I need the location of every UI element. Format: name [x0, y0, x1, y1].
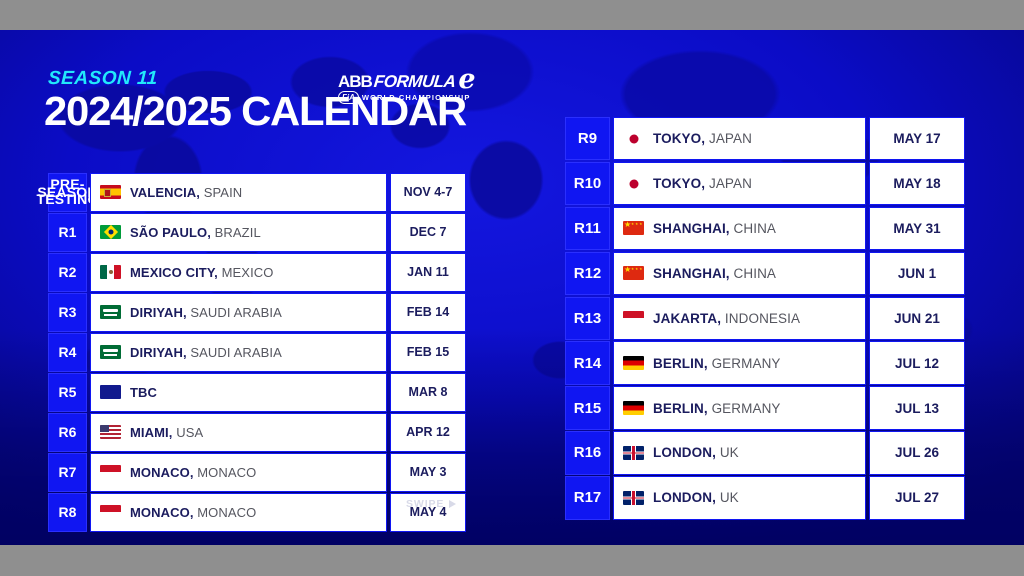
- round-badge: R8: [48, 493, 87, 532]
- table-row[interactable]: R2MEXICO CITY, MEXICOJAN 11: [48, 253, 466, 292]
- table-row[interactable]: R4DIRIYAH, SAUDI ARABIAFEB 15: [48, 333, 466, 372]
- race-date: NOV 4-7: [390, 173, 466, 212]
- table-row[interactable]: R14BERLIN, GERMANYJUL 12: [565, 341, 965, 384]
- mexico-flag: [100, 265, 121, 279]
- venue-cell: LONDON, UK: [613, 476, 866, 519]
- table-row[interactable]: R5TBCMAR 8: [48, 373, 466, 412]
- venue-label: SHANGHAI, CHINA: [653, 221, 776, 236]
- round-badge: R3: [48, 293, 87, 332]
- round-badge: R4: [48, 333, 87, 372]
- venue-label: DIRIYAH, SAUDI ARABIA: [130, 305, 282, 320]
- fia-badge-icon: FiA: [338, 91, 359, 104]
- venue-country: UK: [720, 445, 739, 460]
- venue-label: VALENCIA, SPAIN: [130, 185, 242, 200]
- round-badge: R15: [565, 386, 610, 429]
- venue-cell: TBC: [90, 373, 387, 412]
- usa-flag: [100, 425, 121, 439]
- venue-city: MIAMI,: [130, 425, 172, 440]
- china-flag: [623, 221, 644, 235]
- table-row[interactable]: R7MONACO, MONACOMAY 3: [48, 453, 466, 492]
- round-badge: R6: [48, 413, 87, 452]
- abb-formula-e-logo: ABB FORMULA e FiA WORLD CHAMPIONSHIP: [338, 70, 478, 108]
- japan-flag: [623, 177, 644, 191]
- round-badge: R9: [565, 117, 610, 160]
- venue-cell: TOKYO, JAPAN: [613, 117, 866, 160]
- venue-country: JAPAN: [709, 131, 752, 146]
- venue-cell: MONACO, MONACO: [90, 493, 387, 532]
- venue-country: SPAIN: [204, 185, 243, 200]
- venue-city: LONDON,: [653, 490, 716, 505]
- race-date: MAY 17: [869, 117, 965, 160]
- venue-city: MONACO,: [130, 505, 194, 520]
- abb-wordmark: ABB: [338, 73, 372, 90]
- race-date: JUN 1: [869, 252, 965, 295]
- venue-country: SAUDI ARABIA: [190, 305, 282, 320]
- round-badge: R5: [48, 373, 87, 412]
- venue-cell: MIAMI, USA: [90, 413, 387, 452]
- venue-country: CHINA: [734, 266, 777, 281]
- venue-city: BERLIN,: [653, 356, 708, 371]
- calendar-stage: SEASON 11 2024/2025 CALENDAR ABB FORMULA…: [0, 30, 1024, 545]
- venue-cell: SHANGHAI, CHINA: [613, 207, 866, 250]
- letterbox-bottom: [0, 545, 1024, 576]
- swipe-label: SWIPE: [406, 498, 444, 510]
- table-row[interactable]: R8MONACO, MONACOMAY 4: [48, 493, 466, 532]
- round-badge: R12: [565, 252, 610, 295]
- table-row[interactable]: R16LONDON, UKJUL 26: [565, 431, 965, 474]
- screen: SEASON 11 2024/2025 CALENDAR ABB FORMULA…: [0, 0, 1024, 576]
- table-row[interactable]: R6MIAMI, USAAPR 12: [48, 413, 466, 452]
- japan-flag: [623, 132, 644, 146]
- indonesia-flag: [623, 311, 644, 325]
- race-date: JUL 27: [869, 476, 965, 519]
- venue-label: LONDON, UK: [653, 445, 739, 460]
- logo-subtitle-row: FiA WORLD CHAMPIONSHIP: [338, 91, 478, 104]
- season-label: SEASON 11: [47, 68, 158, 90]
- venue-cell: LONDON, UK: [613, 431, 866, 474]
- venue-country: CHINA: [734, 221, 777, 236]
- germany-flag: [623, 401, 644, 415]
- swipe-hint[interactable]: SWIPE: [406, 498, 456, 510]
- race-date: MAR 8: [390, 373, 466, 412]
- round-badge: R1: [48, 213, 87, 252]
- race-date: JUL 13: [869, 386, 965, 429]
- venue-label: MONACO, MONACO: [130, 465, 256, 480]
- round-badge: R2: [48, 253, 87, 292]
- venue-label: MIAMI, USA: [130, 425, 203, 440]
- venue-country: UK: [720, 490, 739, 505]
- brazil-flag: [100, 225, 121, 239]
- venue-city: TOKYO,: [653, 176, 705, 191]
- venue-label: BERLIN, GERMANY: [653, 401, 781, 416]
- venue-country: INDONESIA: [725, 311, 800, 326]
- venue-cell: SHANGHAI, CHINA: [613, 252, 866, 295]
- venue-cell: JAKARTA, INDONESIA: [613, 297, 866, 340]
- round-badge: R13: [565, 297, 610, 340]
- venue-country: USA: [176, 425, 203, 440]
- venue-label: TBC: [130, 385, 157, 400]
- venue-city: MONACO,: [130, 465, 194, 480]
- venue-cell: BERLIN, GERMANY: [613, 386, 866, 429]
- table-row[interactable]: R12SHANGHAI, CHINAJUN 1: [565, 252, 965, 295]
- race-date: JUL 12: [869, 341, 965, 384]
- race-date: MAY 3: [390, 453, 466, 492]
- venue-cell: MONACO, MONACO: [90, 453, 387, 492]
- race-date: DEC 7: [390, 213, 466, 252]
- venue-city: SÃO PAULO,: [130, 225, 211, 240]
- table-row[interactable]: R1SÃO PAULO, BRAZILDEC 7: [48, 213, 466, 252]
- race-date: JAN 11: [390, 253, 466, 292]
- venue-city: MEXICO CITY,: [130, 265, 218, 280]
- table-row[interactable]: PRE-SEASONTESTINGVALENCIA, SPAINNOV 4-7: [48, 173, 466, 212]
- play-triangle-right-icon: [449, 500, 456, 508]
- round-badge: R7: [48, 453, 87, 492]
- race-date: FEB 15: [390, 333, 466, 372]
- world-championship-label: WORLD CHAMPIONSHIP: [362, 93, 471, 102]
- race-date: APR 12: [390, 413, 466, 452]
- table-row[interactable]: R10TOKYO, JAPANMAY 18: [565, 162, 965, 205]
- venue-city: TOKYO,: [653, 131, 705, 146]
- round-badge: R10: [565, 162, 610, 205]
- monaco-flag: [100, 505, 121, 519]
- spain-flag: [100, 185, 121, 199]
- venue-label: LONDON, UK: [653, 490, 739, 505]
- china-flag: [623, 266, 644, 280]
- venue-cell: VALENCIA, SPAIN: [90, 173, 387, 212]
- table-row[interactable]: R17LONDON, UKJUL 27: [565, 476, 965, 519]
- venue-label: MONACO, MONACO: [130, 505, 256, 520]
- venue-city: DIRIYAH,: [130, 305, 187, 320]
- germany-flag: [623, 356, 644, 370]
- round-badge: PRE-SEASONTESTING: [48, 173, 87, 212]
- table-row[interactable]: R11SHANGHAI, CHINAMAY 31: [565, 207, 965, 250]
- saudi-flag: [100, 345, 121, 359]
- tbc-flag: [100, 385, 121, 399]
- venue-city: SHANGHAI,: [653, 221, 730, 236]
- table-row[interactable]: R3DIRIYAH, SAUDI ARABIAFEB 14: [48, 293, 466, 332]
- round-badge: R14: [565, 341, 610, 384]
- venue-country: SAUDI ARABIA: [190, 345, 282, 360]
- saudi-flag: [100, 305, 121, 319]
- venue-city: TBC: [130, 385, 157, 400]
- race-date: MAY 18: [869, 162, 965, 205]
- table-row[interactable]: R9TOKYO, JAPANMAY 17: [565, 117, 965, 160]
- calendar-table-right: R9TOKYO, JAPANMAY 17R10TOKYO, JAPANMAY 1…: [565, 117, 965, 521]
- venue-label: DIRIYAH, SAUDI ARABIA: [130, 345, 282, 360]
- venue-label: MEXICO CITY, MEXICO: [130, 265, 274, 280]
- race-date: JUN 21: [869, 297, 965, 340]
- venue-label: SHANGHAI, CHINA: [653, 266, 776, 281]
- table-row[interactable]: R15BERLIN, GERMANYJUL 13: [565, 386, 965, 429]
- venue-label: BERLIN, GERMANY: [653, 356, 781, 371]
- venue-country: BRAZIL: [215, 225, 261, 240]
- venue-country: MONACO: [197, 505, 256, 520]
- round-badge: R11: [565, 207, 610, 250]
- calendar-table-left: PRE-SEASONTESTINGVALENCIA, SPAINNOV 4-7R…: [48, 173, 466, 533]
- venue-city: DIRIYAH,: [130, 345, 187, 360]
- venue-country: MEXICO: [222, 265, 274, 280]
- venue-country: GERMANY: [712, 401, 781, 416]
- venue-cell: DIRIYAH, SAUDI ARABIA: [90, 293, 387, 332]
- uk-flag: [623, 491, 644, 505]
- venue-city: JAKARTA,: [653, 311, 721, 326]
- race-date: FEB 14: [390, 293, 466, 332]
- venue-city: LONDON,: [653, 445, 716, 460]
- race-date: JUL 26: [869, 431, 965, 474]
- venue-label: SÃO PAULO, BRAZIL: [130, 225, 261, 240]
- round-badge: R17: [565, 476, 610, 519]
- race-date: MAY 31: [869, 207, 965, 250]
- venue-cell: BERLIN, GERMANY: [613, 341, 866, 384]
- letterbox-top: [0, 0, 1024, 30]
- monaco-flag: [100, 465, 121, 479]
- venue-city: SHANGHAI,: [653, 266, 730, 281]
- venue-cell: MEXICO CITY, MEXICO: [90, 253, 387, 292]
- table-row[interactable]: R13JAKARTA, INDONESIAJUN 21: [565, 297, 965, 340]
- venue-cell: DIRIYAH, SAUDI ARABIA: [90, 333, 387, 372]
- venue-label: TOKYO, JAPAN: [653, 131, 752, 146]
- venue-city: VALENCIA,: [130, 185, 200, 200]
- venue-country: GERMANY: [712, 356, 781, 371]
- venue-city: BERLIN,: [653, 401, 708, 416]
- logo-wordmark-row: ABB FORMULA e: [338, 70, 478, 90]
- uk-flag: [623, 446, 644, 460]
- e-mark-icon: e: [458, 70, 475, 90]
- venue-cell: SÃO PAULO, BRAZIL: [90, 213, 387, 252]
- venue-label: JAKARTA, INDONESIA: [653, 311, 800, 326]
- venue-cell: TOKYO, JAPAN: [613, 162, 866, 205]
- venue-country: MONACO: [197, 465, 256, 480]
- venue-country: JAPAN: [709, 176, 752, 191]
- venue-label: TOKYO, JAPAN: [653, 176, 752, 191]
- round-badge: R16: [565, 431, 610, 474]
- formula-wordmark: FORMULA: [373, 73, 456, 90]
